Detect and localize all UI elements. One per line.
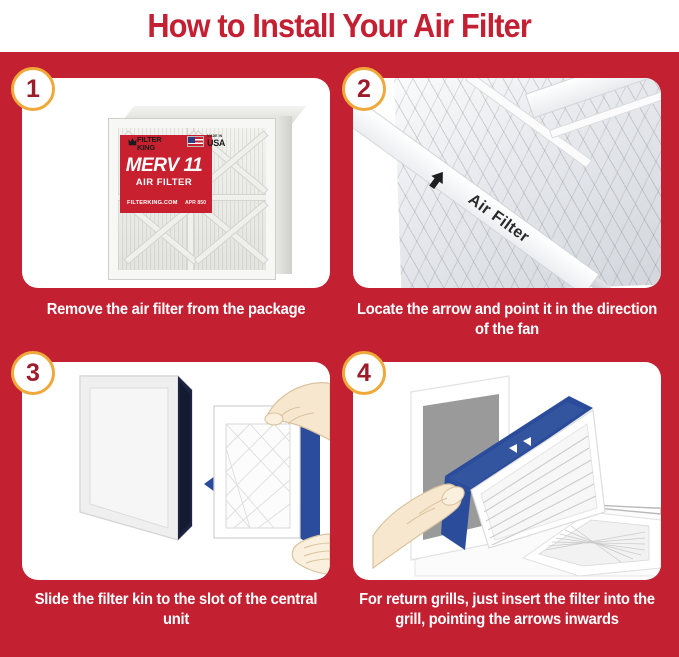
filter-side-depth [276,116,292,274]
central-unit-slot [80,376,192,540]
step-1: MERV 11 AIR FILTER FILTERKING.COM APR 85… [22,78,330,368]
slide-filter-svg [22,362,330,580]
step-4-number-badge: 4 [342,351,386,395]
infographic-root: How to Install Your Air Filter [0,0,679,657]
return-grill-svg [353,362,661,580]
step-1-number-badge: 1 [11,67,55,111]
product-type-text: AIR FILTER [120,177,208,188]
made-in-usa-text: MADE IN USA [207,135,225,148]
page-title: How to Install Your Air Filter [148,7,532,45]
step-2: Air Filter 2 Locate the arrow and point … [353,78,661,368]
title-band: How to Install Your Air Filter [0,0,679,52]
brand-line-2: KING [137,143,155,152]
step-4: 4 For return grills, just insert the fil… [353,362,661,652]
step-3-card [22,362,330,580]
brand-website-text: FILTERKING.COM [127,200,178,206]
usa-flag-icon [187,136,204,147]
step-1-card: MERV 11 AIR FILTER FILTERKING.COM APR 85… [22,78,330,288]
step-4-caption: For return grills, just insert the filte… [353,590,661,631]
made-in-usa-badge: MADE IN USA [187,135,225,148]
origin-big-text: USA [207,139,225,148]
step-2-caption: Locate the arrow and point it in the dir… [353,300,661,341]
filter-corner-photo: Air Filter [353,78,661,288]
step-4-card [353,362,661,580]
brand-name-text: FILTER KING [137,136,162,152]
step-3-caption: Slide the filter kin to the slot of the … [22,590,330,631]
merv-rating-text: MERV 11 [120,155,208,177]
step-2-number-badge: 2 [342,67,386,111]
filter-front-face: MERV 11 AIR FILTER FILTERKING.COM APR 85… [108,118,276,280]
return-grill-illustration [353,362,661,580]
step-1-caption: Remove the air filter from the package [20,300,332,320]
crown-icon [128,136,137,149]
step-3: 3 Slide the filter kin to the slot of th… [22,362,330,652]
air-filter-product-photo: MERV 11 AIR FILTER FILTERKING.COM APR 85… [108,106,292,282]
hand-lower-illustration [292,534,330,574]
apr-rating-text: APR 850 [185,200,206,206]
step-2-card: Air Filter [353,78,661,288]
step-3-number-badge: 3 [11,351,55,395]
slide-filter-illustration [22,362,330,580]
